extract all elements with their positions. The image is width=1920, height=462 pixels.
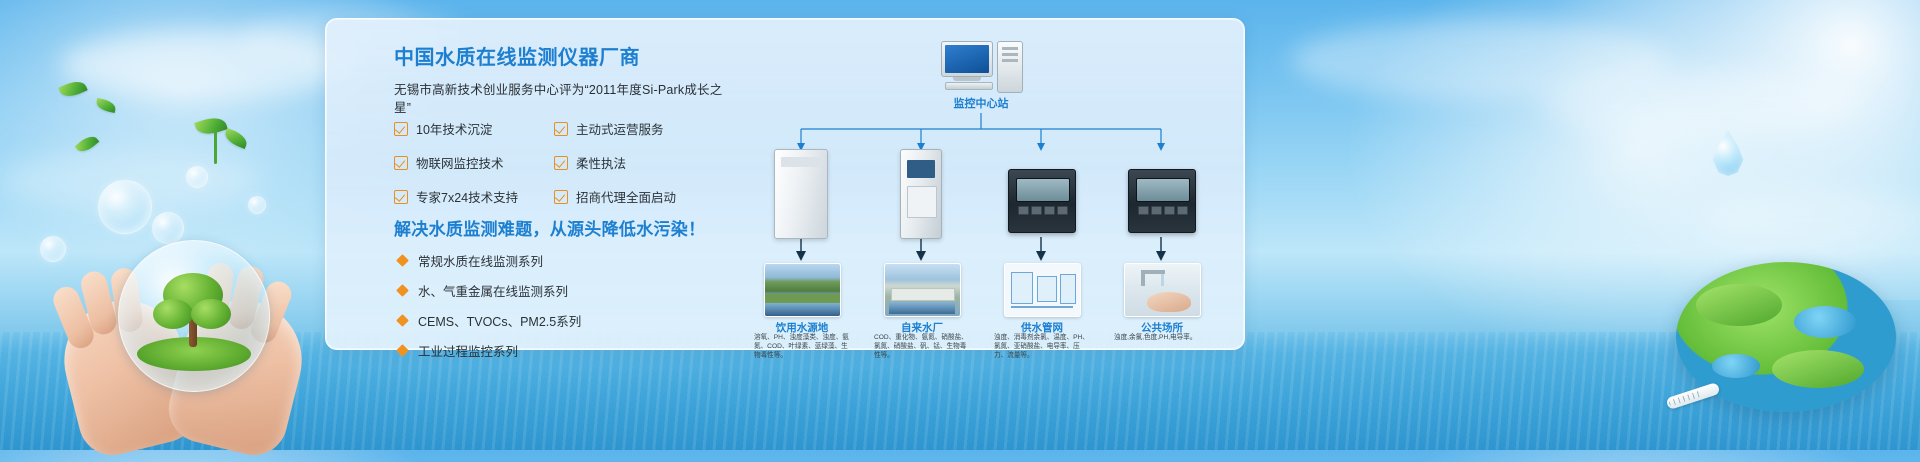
hands-holding-tree-globe [60,250,320,450]
list-item-label: CEMS、TVOCs、PM2.5系列 [418,311,581,330]
checklist-label: 专家7x24技术支持 [416,187,518,206]
checklist-row: 物联网监控技术 柔性执法 [394,153,714,172]
pipeline-diagram[interactable] [1004,263,1081,317]
rack-analyzer-icon [900,149,942,239]
application-desc: 溶氧、PH、浊度藻类、浊度、氨氮、COD、叶绿素、蓝绿藻、生物毒性等。 [754,333,850,360]
application-desc: 浊度,余氯,色度,PH,电导率。 [1114,333,1210,342]
lead-headline: 解决水质监测难题，从源头降低水污染！ [394,215,705,240]
checkbox-checked-icon [394,190,408,204]
checklist-item[interactable]: 专家7x24技术支持 [394,187,554,206]
banner-card: 中国水质在线监测仪器厂商 无锡市高新技术创业服务中心评为“2011年度Si-Pa… [325,18,1245,350]
list-item[interactable]: 常规水质在线监测系列 [398,251,718,270]
glass-globe [118,240,270,392]
list-item[interactable]: CEMS、TVOCs、PM2.5系列 [398,311,718,330]
list-item-label: 常规水质在线监测系列 [418,251,543,270]
faucet-handwash-photo[interactable] [1124,263,1201,317]
river-landscape-photo[interactable] [764,263,841,317]
page-subtitle: 无锡市高新技术创业服务中心评为“2011年度Si-Park成长之星” [394,81,734,117]
system-diagram: 监控中心站 [756,33,1226,343]
diamond-bullet-icon [396,254,409,267]
checklist-label: 10年技术沉淀 [416,119,492,138]
checklist-label: 物联网监控技术 [416,153,504,172]
green-leaf-icon [222,128,249,149]
checkbox-checked-icon [554,156,568,170]
checklist-item[interactable]: 10年技术沉淀 [394,119,554,138]
checklist-item[interactable]: 招商代理全面启动 [554,187,714,206]
device-buttons [1138,206,1186,222]
application-desc: 浊度、消毒剂余氯、温度、PH、氯氮、亚硝酸盐、电导率、压力、流量等。 [994,333,1090,360]
panel-controller-icon [1008,169,1076,233]
list-item[interactable]: 水、气重金属在线监测系列 [398,281,718,300]
list-item-label: 工业过程监控系列 [418,341,518,360]
island-lake [1794,306,1856,338]
device-lcd-screen [1016,178,1070,202]
list-item[interactable]: 工业过程监控系列 [398,341,718,360]
soap-bubble [186,166,208,188]
keyboard-icon [945,82,993,90]
checklist-row: 10年技术沉淀 主动式运营服务 [394,119,714,138]
soap-bubble [98,180,152,234]
tree-crown [153,299,193,329]
panel-meter-icon [1128,169,1196,233]
feature-checklist: 10年技术沉淀 主动式运营服务 物联网监控技术 柔性执法 专家7x24技术支持 [394,119,714,221]
list-item-label: 水、气重金属在线监测系列 [418,281,568,300]
page-title: 中国水质在线监测仪器厂商 [394,45,734,71]
cabinet-analyzer-icon [774,149,828,239]
checklist-label: 招商代理全面启动 [576,187,676,206]
checkbox-checked-icon [554,122,568,136]
water-plant-photo[interactable] [884,263,961,317]
checkbox-checked-icon [394,122,408,136]
center-station-label: 监控中心站 [906,95,1056,111]
cloud-decor [1540,70,1860,140]
headline-block: 中国水质在线监测仪器厂商 无锡市高新技术创业服务中心评为“2011年度Si-Pa… [394,45,734,117]
device-lcd-screen [1136,178,1190,202]
application-desc: COD、重化物、氨氮、硝酸盐、氯氮、硝酸盐、矾、锰、生物毒性等。 [874,333,970,360]
checklist-item[interactable]: 物联网监控技术 [394,153,554,172]
green-leaf-icon [95,98,117,113]
checkbox-checked-icon [554,190,568,204]
device-buttons [1018,206,1066,222]
tree-crown [191,299,231,329]
green-leaf-icon [194,114,227,138]
diamond-bullet-icon [396,344,409,357]
island-hill [1772,350,1864,388]
monitor-base [953,77,981,81]
sprout-stem [214,130,217,164]
soap-bubble [152,212,184,244]
diamond-bullet-icon [396,284,409,297]
checklist-row: 专家7x24技术支持 招商代理全面启动 [394,187,714,206]
island-hill [1696,284,1782,326]
monitor-icon [941,41,993,77]
checkbox-checked-icon [394,156,408,170]
pc-tower-icon [997,41,1023,93]
product-series-list: 常规水质在线监测系列 水、气重金属在线监测系列 CEMS、TVOCs、PM2.5… [398,251,718,371]
checklist-item[interactable]: 柔性执法 [554,153,714,172]
checklist-item[interactable]: 主动式运营服务 [554,119,714,138]
diamond-bullet-icon [396,314,409,327]
island-lake [1712,354,1760,378]
checklist-label: 主动式运营服务 [576,119,664,138]
desktop-computer-icon [941,41,1023,89]
soap-bubble [248,196,266,214]
checklist-label: 柔性执法 [576,153,626,172]
